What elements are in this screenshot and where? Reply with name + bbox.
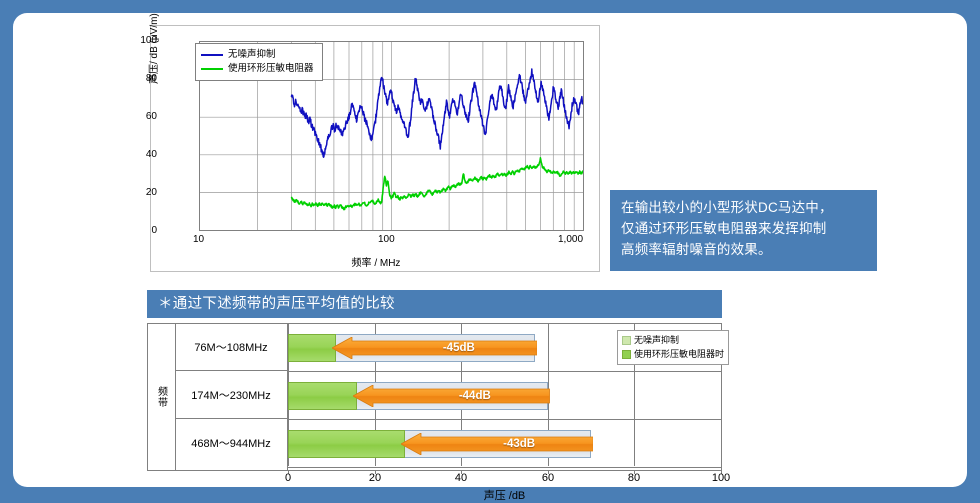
reduction-label-1: -44dB xyxy=(459,385,491,407)
bar-chart-y-axis-label: 频带 xyxy=(147,323,175,471)
line-chart-ytick-40: 40 xyxy=(127,150,157,160)
bar-legend-swatch-pale xyxy=(622,336,631,345)
bar-xtick-40: 40 xyxy=(455,472,467,484)
line-chart-ytick-0: 0 xyxy=(127,226,157,236)
line-chart-ytick-20: 20 xyxy=(127,188,157,198)
bar-with-varistor-0 xyxy=(288,334,336,362)
line-chart-ytick-100: 100 xyxy=(127,36,157,46)
line-chart-xtick-100: 100 xyxy=(378,234,395,245)
legend-item-no-suppression: 无噪声抑制 xyxy=(201,48,314,62)
bar-group-2: -43dB xyxy=(288,420,721,468)
reduction-label-2: -43dB xyxy=(503,433,535,455)
callout-box: 在输出较小的小型形状DC马达中， 仅通过环形压敏电阻器来发挥抑制 高频率辐射噪音… xyxy=(610,190,877,271)
bar-with-varistor-2 xyxy=(288,430,405,458)
reduction-arrow-2: -43dB xyxy=(401,433,593,455)
section-header: ＊通过下述频带的声压平均值的比较 xyxy=(147,290,722,318)
bar-xtick-60: 60 xyxy=(542,472,554,484)
line-series-1 xyxy=(291,158,583,210)
line-chart-ytick-60: 60 xyxy=(127,112,157,122)
line-chart-xtick-10: 10 xyxy=(193,234,204,245)
bar-chart-y-axis-text: 频带 xyxy=(154,386,169,408)
callout-line-3: 高频率辐射噪音的效果。 xyxy=(621,240,868,261)
bar-chart-legend: 无噪声抑制 使用环形压敏电阻器时 xyxy=(617,330,729,365)
callout-line-1: 在输出较小的小型形状DC马达中， xyxy=(621,198,868,219)
callout-line-2: 仅通过环形压敏电阻器来发挥抑制 xyxy=(621,219,868,240)
bar-xtick-80: 80 xyxy=(628,472,640,484)
bar-xtick-20: 20 xyxy=(369,472,381,484)
bar-legend-item-no-suppression: 无噪声抑制 xyxy=(622,334,724,348)
legend-label-no-suppression: 无噪声抑制 xyxy=(228,48,276,62)
bar-legend-swatch-green xyxy=(622,350,631,359)
reduction-label-0: -45dB xyxy=(443,337,475,359)
line-series-0 xyxy=(291,69,583,157)
bar-legend-label-with-varistor: 使用环形压敏电阻器时 xyxy=(634,348,724,362)
legend-item-with-varistor: 使用环形压敏电阻器 xyxy=(201,62,314,76)
bar-row-label-1: 174M～230MHz xyxy=(175,371,287,419)
bar-chart-x-axis xyxy=(288,470,721,471)
reduction-arrow-1: -44dB xyxy=(353,385,550,407)
legend-line-swatch-green xyxy=(201,68,223,70)
reduction-arrow-0: -45dB xyxy=(332,337,537,359)
line-chart-ytick-80: 80 xyxy=(127,74,157,84)
bar-xtick-0: 0 xyxy=(285,472,291,484)
line-chart-panel: 声压/ dB (μV/m) 100 80 60 40 20 0 无噪声抑制 使用… xyxy=(150,25,600,272)
page-frame: 声压/ dB (μV/m) 100 80 60 40 20 0 无噪声抑制 使用… xyxy=(0,0,980,500)
bar-legend-label-no-suppression: 无噪声抑制 xyxy=(634,334,679,348)
bar-row-label-2: 468M～944MHz xyxy=(175,419,287,467)
bar-group-1: -44dB xyxy=(288,372,721,420)
legend-line-swatch-blue xyxy=(201,54,223,56)
line-chart-legend: 无噪声抑制 使用环形压敏电阻器 xyxy=(195,43,323,81)
content-card: 声压/ dB (μV/m) 100 80 60 40 20 0 无噪声抑制 使用… xyxy=(13,13,967,487)
line-chart-xtick-1000: 1,000 xyxy=(558,234,583,245)
bar-legend-item-with-varistor: 使用环形压敏电阻器时 xyxy=(622,348,724,362)
bar-chart-x-axis-label: 声压 /dB xyxy=(288,487,721,503)
bar-chart-row-labels: 76M～108MHz 174M～230MHz 468M～944MHz xyxy=(175,323,287,471)
line-chart-x-axis-label: 频率 / MHz xyxy=(151,254,601,269)
bar-row-label-0: 76M～108MHz xyxy=(175,323,287,371)
bar-with-varistor-1 xyxy=(288,382,357,410)
bar-xtick-100: 100 xyxy=(712,472,730,484)
legend-label-with-varistor: 使用环形压敏电阻器 xyxy=(228,62,314,76)
